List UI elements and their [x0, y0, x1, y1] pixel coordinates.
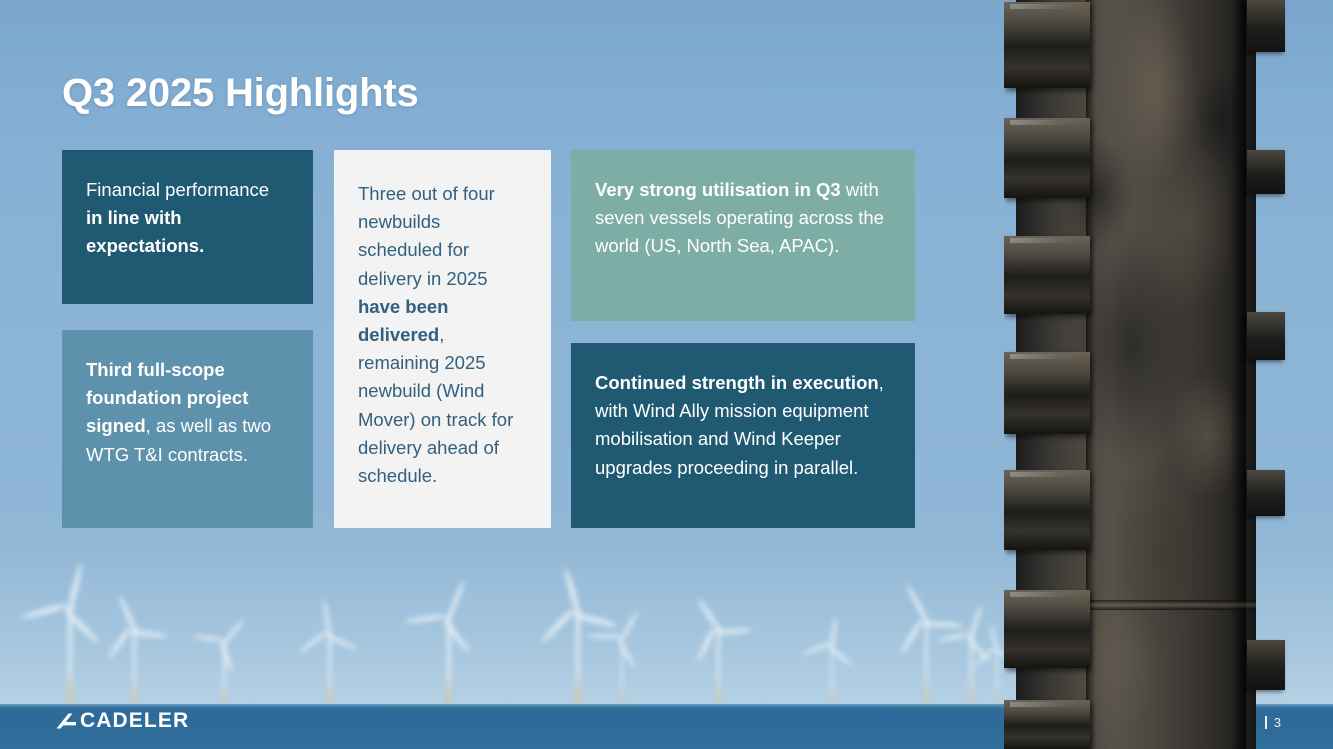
- turbine-hub: [620, 636, 625, 641]
- card-trail-regular: , remaining 2025 newbuild (Wind Mover) o…: [358, 324, 513, 486]
- cadeler-chevron-icon: [55, 711, 77, 732]
- wind-turbine: [672, 593, 766, 708]
- turbine-blade: [973, 647, 995, 667]
- page-number: 3: [1265, 715, 1281, 730]
- monopile-bolt-tab: [1247, 312, 1285, 360]
- turbine-blade: [118, 595, 137, 630]
- card-text: Three out of four newbuilds scheduled fo…: [358, 180, 527, 490]
- card-lead-regular: Financial performance: [86, 179, 269, 200]
- monopile-rung: [1004, 2, 1090, 88]
- turbine-blade: [696, 598, 720, 630]
- turbine-blade: [21, 602, 67, 620]
- turbine-hub: [830, 644, 834, 648]
- turbine-blade: [905, 585, 928, 622]
- turbine-blade: [716, 627, 752, 634]
- turbine-hub: [995, 648, 999, 652]
- turbine-blade: [697, 628, 717, 662]
- cadeler-logo-text: CADELER: [80, 709, 189, 733]
- turbine-blade: [322, 600, 331, 634]
- highlight-card-vessel-utilisation: Very strong utilisation in Q3 with seven…: [571, 150, 915, 321]
- turbine-mast: [68, 608, 72, 708]
- card-lead-bold: in line with expectations.: [86, 207, 204, 256]
- presentation-slide: Q3 2025 Highlights Financial performance…: [0, 0, 1333, 749]
- highlight-card-foundation-project: Third full-scope foundation project sign…: [62, 330, 313, 528]
- turbine-hub: [132, 627, 137, 632]
- turbine-blade: [990, 623, 999, 650]
- highlight-card-financial-performance: Financial performance in line with expec…: [62, 150, 313, 304]
- turbine-blade: [446, 580, 467, 620]
- turbine-mast: [996, 650, 998, 708]
- card-lead-regular: Three out of four newbuilds scheduled fo…: [358, 183, 495, 289]
- turbine-blade: [540, 608, 575, 644]
- monopile-rung: [1004, 118, 1090, 198]
- card-text: Financial performance in line with expec…: [86, 176, 289, 261]
- card-text: Very strong utilisation in Q3 with seven…: [595, 176, 891, 261]
- turbine-blade: [219, 642, 234, 672]
- wind-turbine: [795, 616, 869, 708]
- wind-turbine: [395, 575, 503, 708]
- wind-turbine: [88, 593, 182, 708]
- page-number-value: 3: [1274, 715, 1281, 730]
- page-title: Q3 2025 Highlights: [62, 71, 419, 116]
- turbine-hub: [67, 605, 74, 612]
- highlight-card-newbuild-deliveries: Three out of four newbuilds scheduled fo…: [334, 150, 551, 528]
- wind-turbine: [580, 604, 664, 708]
- card-text: Third full-scope foundation project sign…: [86, 356, 289, 469]
- monopile-bolt-tab: [1247, 0, 1285, 52]
- turbine-blade: [405, 613, 447, 624]
- card-lead-bold: Continued strength in execution: [595, 372, 879, 393]
- monopile-rung: [1004, 700, 1090, 749]
- wind-turbine: [285, 598, 374, 708]
- turbine-blade: [830, 618, 838, 647]
- highlight-card-execution-strength: Continued strength in execution, with Wi…: [571, 343, 915, 528]
- turbine-blade: [563, 568, 581, 612]
- monopile-bolt-tab: [1247, 640, 1285, 690]
- wind-turbine: [185, 610, 264, 708]
- turbine-mast: [576, 612, 580, 708]
- turbine-hub: [222, 640, 227, 645]
- turbine-hub: [327, 631, 332, 636]
- turbine-blade: [802, 643, 830, 657]
- monopile-foreground: [1004, 0, 1333, 749]
- turbine-blade: [899, 619, 924, 655]
- monopile-rung: [1004, 470, 1090, 550]
- card-lead-bold: have been delivered: [358, 296, 449, 345]
- turbine-blade: [108, 627, 133, 659]
- cadeler-logo: CADELER: [55, 709, 189, 733]
- page-number-separator-bar: [1265, 716, 1267, 729]
- card-text: Continued strength in execution, with Wi…: [595, 369, 891, 482]
- turbine-mast: [133, 630, 136, 708]
- monopile-rung: [1004, 590, 1090, 668]
- card-lead-bold: Very strong utilisation in Q3: [595, 179, 841, 200]
- turbine-mast: [831, 646, 833, 708]
- turbine-blade: [588, 634, 620, 638]
- turbine-mast: [717, 630, 720, 708]
- turbine-hub: [446, 615, 452, 621]
- turbine-blade: [193, 634, 224, 642]
- turbine-blade: [67, 563, 84, 609]
- turbine-blade: [616, 638, 636, 668]
- monopile-bolt-tab: [1247, 150, 1285, 194]
- monopile-rung: [1004, 352, 1090, 434]
- monopile-bolt-tab: [1247, 470, 1285, 516]
- turbine-hub: [716, 627, 721, 632]
- turbine-mast: [328, 634, 331, 708]
- monopile-seam-right: [1230, 0, 1246, 749]
- monopile-rung: [1004, 236, 1090, 314]
- turbine-blade: [298, 630, 328, 654]
